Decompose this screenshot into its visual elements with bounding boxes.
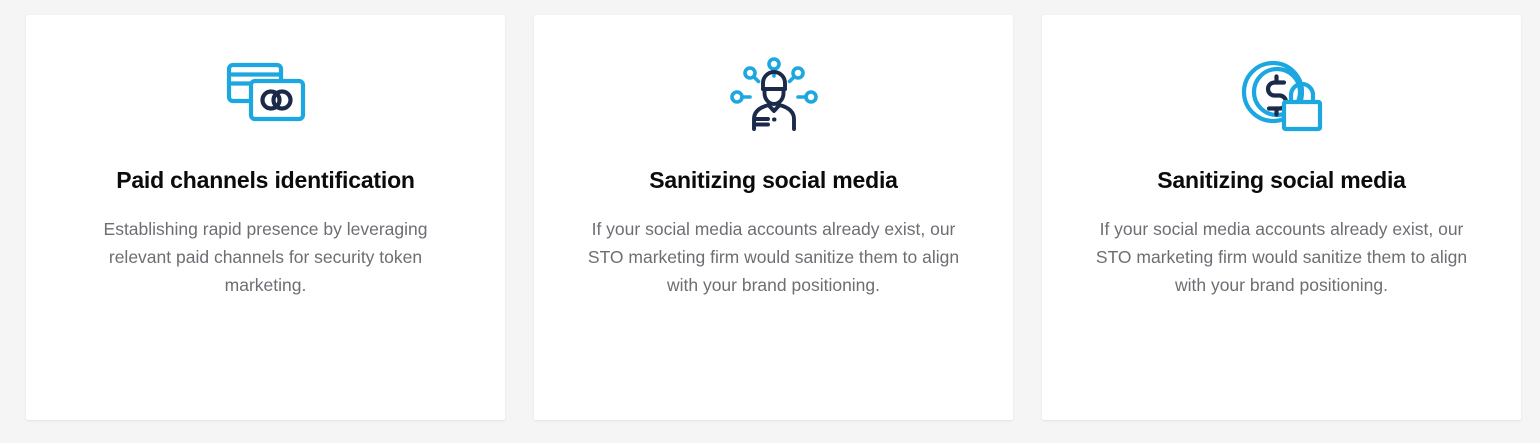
person-network-icon [724, 53, 824, 137]
card-title: Sanitizing social media [631, 165, 915, 195]
card-title: Paid channels identification [98, 165, 433, 195]
card-description: Establishing rapid presence by leveragin… [61, 215, 471, 299]
card-description: If your social media accounts already ex… [1077, 215, 1487, 299]
feature-card[interactable]: Paid channels identification Establishin… [26, 15, 505, 420]
feature-cards-row: Paid channels identification Establishin… [26, 15, 1521, 420]
feature-card[interactable]: Sanitizing social media If your social m… [1042, 15, 1521, 420]
dollar-coin-lock-icon [1232, 53, 1332, 137]
card-description: If your social media accounts already ex… [569, 215, 979, 299]
card-title: Sanitizing social media [1139, 165, 1423, 195]
credit-cards-icon [216, 53, 316, 137]
feature-card[interactable]: Sanitizing social media If your social m… [534, 15, 1013, 420]
